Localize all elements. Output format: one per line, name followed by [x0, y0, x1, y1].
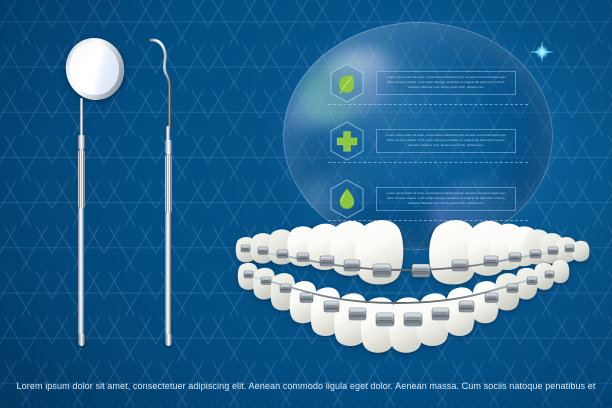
mirror-handle-end: [78, 334, 85, 346]
probe-handle: [165, 213, 171, 342]
info-text-1: Lorem ipsum dolor sit amet, consectetuer…: [383, 75, 509, 90]
medical-cross-icon: [328, 120, 366, 162]
info-text-box-2: Lorem ipsum dolor sit amet, consectetuer…: [376, 129, 516, 153]
probe-tip: [138, 34, 192, 134]
info-text-box-3: Lorem ipsum dolor sit amet, consectetuer…: [376, 187, 516, 211]
lower-arch: [238, 260, 569, 353]
info-text-3: Lorem ipsum dolor sit amet, consectetuer…: [383, 191, 509, 206]
info-row-3[interactable]: Lorem ipsum dolor sit amet, consectetuer…: [328, 178, 516, 220]
water-drop-icon: [328, 178, 366, 220]
info-divider-3: [328, 220, 528, 221]
caption-text: Lorem ipsum dolor sit amet, consectetuer…: [0, 381, 612, 391]
poster-canvas: Lorem ipsum dolor sit amet, consectetuer…: [0, 0, 612, 408]
mirror-grip: [78, 149, 85, 209]
mirror-ferrule: [78, 135, 85, 149]
info-row-1[interactable]: Lorem ipsum dolor sit amet, consectetuer…: [328, 62, 516, 104]
info-divider-1: [328, 104, 528, 105]
info-row-2[interactable]: Lorem ipsum dolor sit amet, consectetuer…: [328, 120, 516, 162]
info-text-box-1: Lorem ipsum dolor sit amet, consectetuer…: [376, 71, 516, 95]
mirror-handle: [78, 208, 84, 342]
leaf-icon: [328, 62, 366, 104]
probe-handle-end: [165, 334, 172, 346]
info-text-2: Lorem ipsum dolor sit amet, consectetuer…: [383, 133, 509, 148]
info-divider-2: [328, 162, 528, 163]
mirror-shaft: [80, 98, 83, 138]
sparkle-glow: [524, 34, 560, 70]
probe-ferrule: [165, 140, 172, 154]
mirror-head: [59, 31, 132, 107]
probe-grip: [165, 154, 172, 214]
